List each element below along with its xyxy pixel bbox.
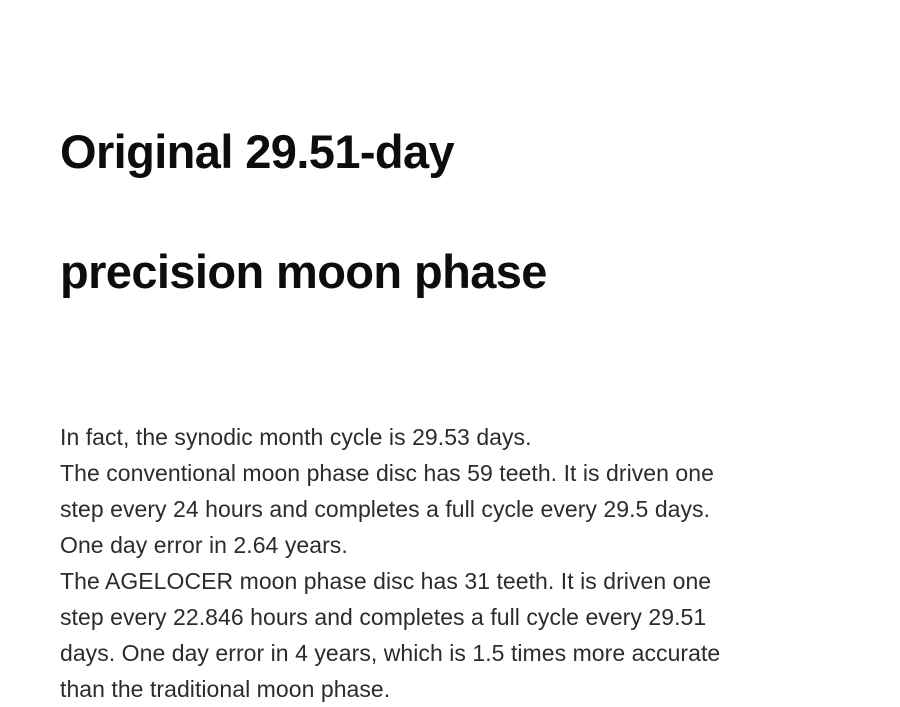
product-description-page: Original 29.51-day precision moon phase … xyxy=(0,0,900,682)
body-line: than the traditional moon phase. xyxy=(60,671,850,707)
body-line: step every 24 hours and completes a full… xyxy=(60,491,850,527)
page-title-line-1: Original 29.51-day xyxy=(60,122,850,182)
page-title: Original 29.51-day precision moon phase xyxy=(60,62,850,362)
body-line: In fact, the synodic month cycle is 29.5… xyxy=(60,419,850,455)
body-line: step every 22.846 hours and completes a … xyxy=(60,599,850,635)
body-line: The AGELOCER moon phase disc has 31 teet… xyxy=(60,563,850,599)
body-line: days. One day error in 4 years, which is… xyxy=(60,635,850,671)
content-block: Original 29.51-day precision moon phase … xyxy=(60,62,850,707)
body-line: The conventional moon phase disc has 59 … xyxy=(60,455,850,491)
body-paragraph: In fact, the synodic month cycle is 29.5… xyxy=(60,419,850,707)
body-line: One day error in 2.64 years. xyxy=(60,527,850,563)
page-title-line-2: precision moon phase xyxy=(60,242,850,302)
